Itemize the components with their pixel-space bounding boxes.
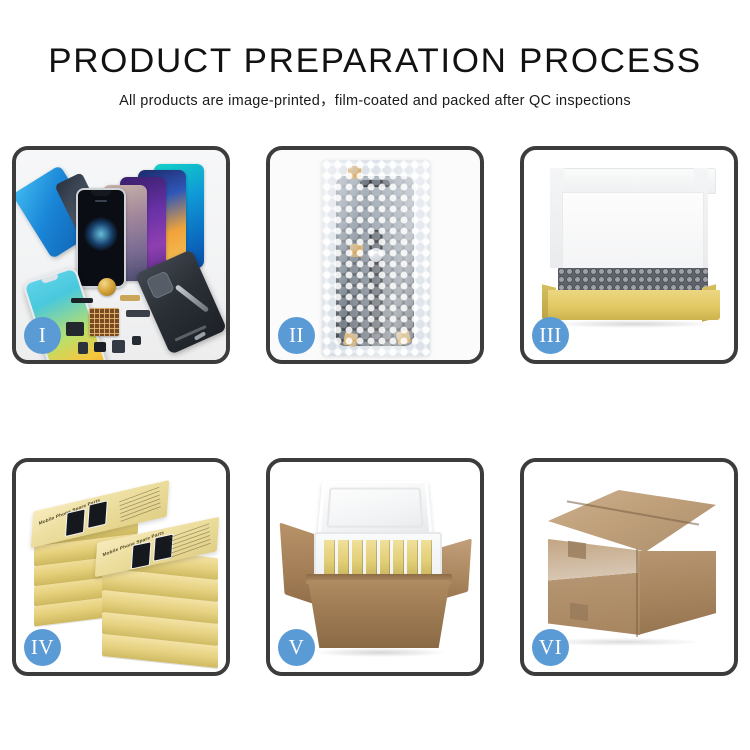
flex-cable-part-h xyxy=(132,336,141,345)
step-panel-6[interactable]: VI xyxy=(520,458,738,676)
product-preparation-process-page: PRODUCT PREPARATION PROCESS All products… xyxy=(0,0,750,750)
flex-cable-part-f xyxy=(94,342,106,352)
carton-right-face xyxy=(638,551,716,635)
process-steps-grid: I II xyxy=(12,146,738,696)
step-badge-4: IV xyxy=(24,629,61,666)
vibration-motor-part xyxy=(98,278,116,296)
step-badge-6: VI xyxy=(532,629,569,666)
flex-cable-part-g xyxy=(112,340,125,353)
step-badge-5: V xyxy=(278,629,315,666)
notch-icon xyxy=(95,200,107,202)
carton-body xyxy=(308,580,450,648)
page-header: PRODUCT PREPARATION PROCESS All products… xyxy=(0,0,750,110)
page-subtitle: All products are image-printed，film-coat… xyxy=(0,80,750,110)
kraft-box-front xyxy=(548,290,720,320)
flex-cable-part-e xyxy=(78,342,88,354)
retail-box-stack-graphic: Mobile Phone Spare Parts Mobile Phone Sp… xyxy=(30,486,220,658)
step-panel-5[interactable]: V xyxy=(266,458,484,676)
step-panel-2[interactable]: II xyxy=(266,146,484,364)
bubble-wrap-layer xyxy=(558,268,708,292)
label-text-lines-front xyxy=(169,523,211,559)
page-title: PRODUCT PREPARATION PROCESS xyxy=(0,42,750,80)
flex-cable-part-b xyxy=(120,295,140,301)
flex-cable-part-a xyxy=(71,298,93,303)
label-text-lines-back xyxy=(119,487,161,523)
flex-cable-part-c xyxy=(126,310,150,317)
carton-tape-lower xyxy=(570,603,588,622)
packed-box-slab xyxy=(380,540,391,578)
phone-screen-black xyxy=(76,188,126,288)
step-badge-3: III xyxy=(532,317,569,354)
step-panel-3[interactable]: III xyxy=(520,146,738,364)
chip-board-part xyxy=(89,308,119,336)
box-drop-shadow xyxy=(554,320,714,328)
plastic-sheen-overlay xyxy=(322,160,430,356)
packed-box-slab xyxy=(338,540,349,578)
packed-retail-boxes xyxy=(324,540,432,578)
carton-drop-shadow xyxy=(314,648,446,657)
foam-cooler-lid xyxy=(317,481,432,536)
bubble-wrap-bag-graphic xyxy=(322,160,430,356)
step-badge-2: II xyxy=(278,317,315,354)
packed-box-slab xyxy=(421,540,432,578)
screen-glow-graphic xyxy=(84,217,118,251)
step-panel-1[interactable]: I xyxy=(12,146,230,364)
label-phone-swatch-1 xyxy=(65,508,86,537)
step-panel-4[interactable]: Mobile Phone Spare Parts Mobile Phone Sp… xyxy=(12,458,230,676)
foam-insert-graphic xyxy=(562,192,704,272)
flex-cable-part-d xyxy=(66,322,84,336)
packed-box-slab xyxy=(352,540,363,578)
box-lid-back-panel xyxy=(550,168,716,194)
label-phone-swatch-2 xyxy=(87,500,108,529)
label-phone-swatch-3 xyxy=(131,541,152,569)
sealed-carton-graphic xyxy=(540,490,724,642)
carton-tape-upper xyxy=(568,541,586,560)
packed-box-slab xyxy=(407,540,418,578)
packed-box-slab xyxy=(324,540,335,578)
carton-vertical-edge xyxy=(636,549,638,637)
packed-box-slab xyxy=(366,540,377,578)
step-badge-1: I xyxy=(24,317,61,354)
packed-box-slab xyxy=(393,540,404,578)
carton-front-face xyxy=(548,539,640,635)
